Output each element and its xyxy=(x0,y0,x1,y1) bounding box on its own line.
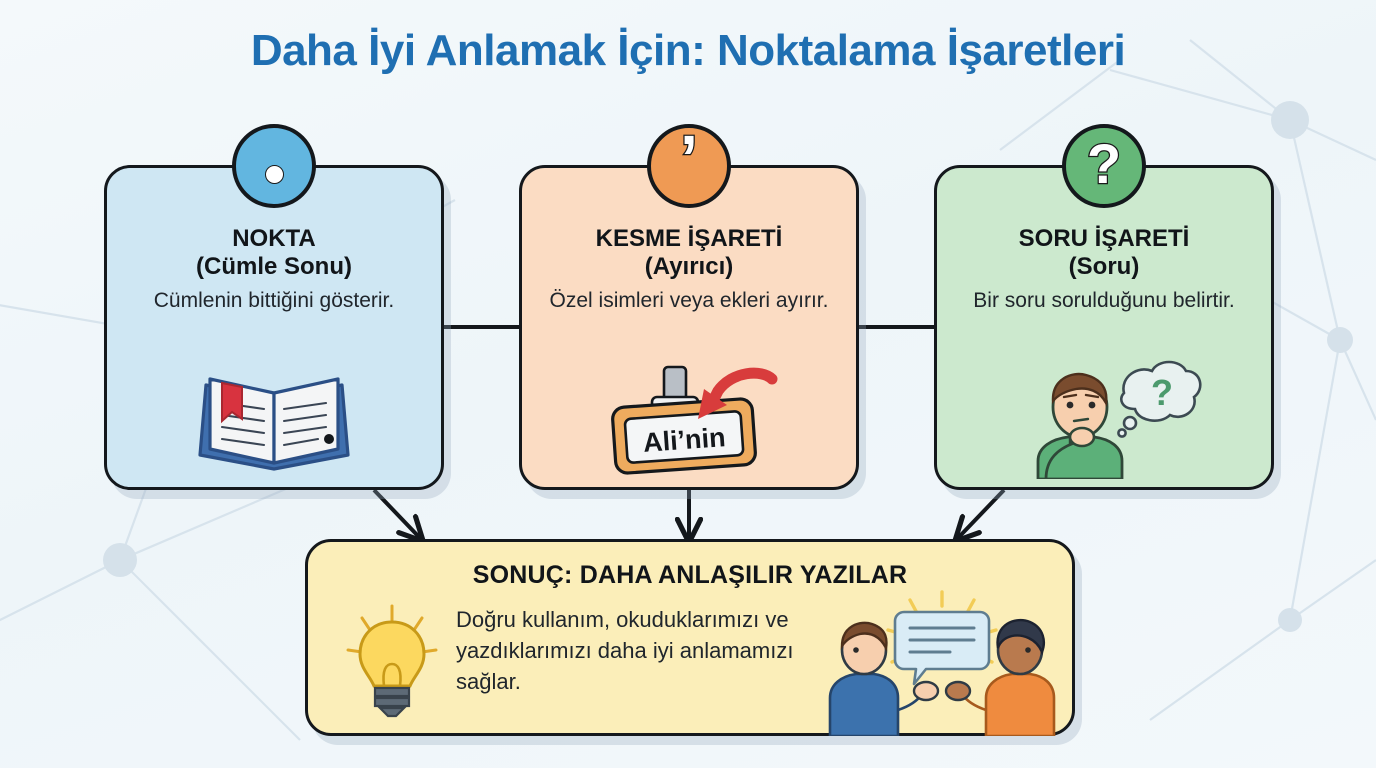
svg-text:?: ? xyxy=(1151,372,1173,413)
period-dot-icon xyxy=(232,124,316,208)
question-mark-glyph: ? xyxy=(1087,136,1121,192)
card-nokta[interactable]: NOKTA (Cümle Sonu) Cümlenin bittiğini gö… xyxy=(104,165,444,490)
result-title: SONUÇ: DAHA ANLAŞILIR YAZILAR xyxy=(308,561,1072,590)
thinking-person-illustration: ? xyxy=(937,357,1271,479)
card-kesme-isareti[interactable]: ’ KESME İŞARETİ (Ayırıcı) Özel isimleri … xyxy=(519,165,859,490)
apostrophe-glyph: ’ xyxy=(680,126,698,190)
card-kesme-description: Özel isimleri veya ekleri ayırır. xyxy=(538,288,840,315)
card-nokta-description: Cümlenin bittiğini gösterir. xyxy=(123,288,425,315)
lightbulb-icon xyxy=(344,604,440,725)
result-description: Doğru kullanım, okuduklarımızı ve yazdık… xyxy=(456,604,856,698)
apostrophe-icon: ’ xyxy=(647,124,731,208)
infographic-canvas: Daha İyi Anlamak İçin: Noktalama İşaretl… xyxy=(0,0,1376,768)
open-book-illustration xyxy=(107,359,441,479)
page-title: Daha İyi Anlamak İçin: Noktalama İşaretl… xyxy=(0,26,1376,76)
card-nokta-subtitle: (Cümle Sonu) xyxy=(117,253,431,281)
result-box[interactable]: SONUÇ: DAHA ANLAŞILIR YAZILAR Doğru kull… xyxy=(305,539,1075,736)
period-dot-glyph xyxy=(265,165,284,184)
card-soru-title: SORU İŞARETİ xyxy=(947,225,1261,253)
card-soru-isareti[interactable]: ? SORU İŞARETİ (Soru) Bir soru sorulduğu… xyxy=(934,165,1274,490)
card-soru-description: Bir soru sorulduğunu belirtir. xyxy=(953,288,1255,315)
card-nokta-title: NOKTA xyxy=(117,225,431,253)
card-kesme-title: KESME İŞARETİ xyxy=(532,225,846,253)
name-badge-illustration: Ali’nin xyxy=(522,361,856,479)
card-soru-subtitle: (Soru) xyxy=(947,253,1261,281)
card-kesme-subtitle: (Ayırıcı) xyxy=(532,253,846,281)
two-people-conversation-illustration xyxy=(822,590,1062,741)
arrow-card1-to-result xyxy=(374,490,420,538)
badge-name-text: Ali’nin xyxy=(642,422,726,458)
arrow-card3-to-result xyxy=(958,490,1004,538)
question-mark-icon: ? xyxy=(1062,124,1146,208)
